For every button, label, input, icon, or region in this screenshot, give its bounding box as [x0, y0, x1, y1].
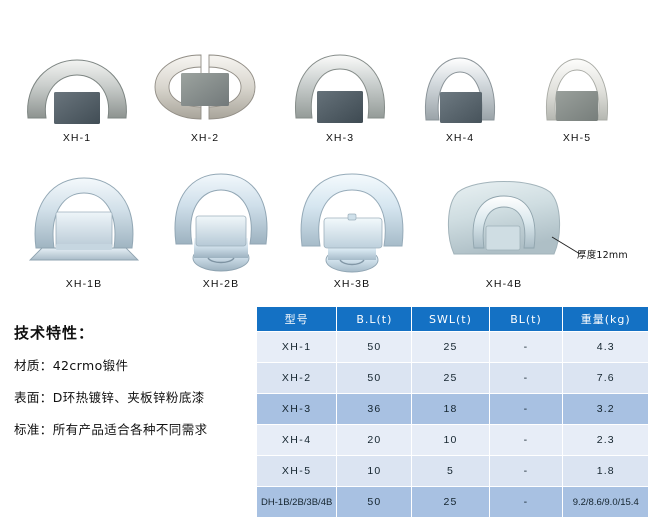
table-row: XH-3 36 18 - 3.2 [257, 394, 648, 424]
product-xh-4b[interactable]: XH-4B [436, 174, 572, 290]
cell-model: DH-1B/2B/3B/4B [257, 487, 336, 517]
cell-swl: 25 [412, 487, 488, 517]
cell-model: XH-1 [257, 332, 336, 362]
cell-weight: 9.2/8.6/9.0/15.4 [563, 487, 648, 517]
tech-spec-surface: 表面：D环热镀锌、夹板锌粉底漆 [14, 387, 254, 406]
cell-model: XH-5 [257, 456, 336, 486]
product-xh-3b[interactable]: XH-3B [290, 168, 414, 290]
product-label-xh-5: XH-5 [534, 132, 620, 144]
product-label-xh-4: XH-4 [414, 132, 506, 144]
cell-bl: 20 [337, 425, 411, 455]
cell-bl2: - [490, 487, 563, 517]
table-row: XH-2 50 25 - 7.6 [257, 363, 648, 393]
product-xh-1[interactable]: XH-1 [18, 48, 136, 144]
cell-weight: 4.3 [563, 332, 648, 362]
col-header-bl: B.L(t) [337, 307, 411, 331]
cell-swl: 18 [412, 394, 488, 424]
cell-model: XH-3 [257, 394, 336, 424]
cell-weight: 2.3 [563, 425, 648, 455]
product-image-xh-1 [18, 48, 136, 126]
col-header-weight: 重量(kg) [563, 307, 648, 331]
table-row: XH-4 20 10 - 2.3 [257, 425, 648, 455]
col-header-bl2: BL(t) [490, 307, 563, 331]
table-row: XH-1 50 25 - 4.3 [257, 332, 648, 362]
cell-weight: 1.8 [563, 456, 648, 486]
product-label-xh-3b: XH-3B [290, 278, 414, 290]
cell-bl: 10 [337, 456, 411, 486]
cell-swl: 25 [412, 332, 488, 362]
cell-bl2: - [490, 363, 563, 393]
cell-bl2: - [490, 425, 563, 455]
spec-table-body: XH-1 50 25 - 4.3 XH-2 50 25 - 7.6 XH-3 3… [257, 332, 648, 517]
cell-model: XH-4 [257, 425, 336, 455]
col-header-swl: SWL(t) [412, 307, 488, 331]
product-xh-2b[interactable]: XH-2B [164, 168, 278, 290]
catalog-page: XH-1 [0, 0, 650, 523]
product-label-xh-3: XH-3 [288, 132, 392, 144]
cell-bl2: - [490, 332, 563, 362]
tech-spec-material: 材质：42crmo锻件 [14, 355, 254, 374]
product-image-xh-5 [534, 54, 620, 126]
cell-swl: 10 [412, 425, 488, 455]
product-xh-3[interactable]: XH-3 [288, 48, 392, 144]
product-label-xh-1: XH-1 [18, 132, 136, 144]
col-header-model: 型号 [257, 307, 336, 331]
cell-bl: 50 [337, 332, 411, 362]
product-label-xh-4b: XH-4B [436, 278, 572, 290]
table-row: XH-5 10 5 - 1.8 [257, 456, 648, 486]
product-label-xh-1b: XH-1B [22, 278, 146, 290]
thickness-annotation: 厚度12mm [577, 247, 628, 261]
cell-bl: 50 [337, 363, 411, 393]
cell-swl: 25 [412, 363, 488, 393]
product-label-xh-2: XH-2 [146, 132, 264, 144]
table-header-row: 型号 B.L(t) SWL(t) BL(t) 重量(kg) [257, 307, 648, 331]
product-xh-5[interactable]: XH-5 [534, 54, 620, 144]
product-xh-4[interactable]: XH-4 [414, 52, 506, 144]
cell-bl2: - [490, 394, 563, 424]
tech-spec-standard: 标准：所有产品适合各种不同需求 [14, 419, 254, 438]
cell-bl2: - [490, 456, 563, 486]
product-image-xh-4b [436, 174, 572, 274]
product-image-xh-3 [288, 48, 392, 126]
product-xh-1b[interactable]: XH-1B [22, 168, 146, 290]
spec-table: 型号 B.L(t) SWL(t) BL(t) 重量(kg) XH-1 50 25… [256, 306, 649, 518]
cell-bl: 36 [337, 394, 411, 424]
product-image-xh-3b [290, 168, 414, 274]
product-image-xh-4 [414, 52, 506, 126]
cell-weight: 3.2 [563, 394, 648, 424]
product-image-xh-1b [22, 168, 146, 274]
tech-spec-block: 技术特性： 材质：42crmo锻件 表面：D环热镀锌、夹板锌粉底漆 标准：所有产… [14, 322, 254, 451]
cell-swl: 5 [412, 456, 488, 486]
spec-table-head: 型号 B.L(t) SWL(t) BL(t) 重量(kg) [257, 307, 648, 331]
tech-spec-title: 技术特性： [14, 322, 254, 343]
product-label-xh-2b: XH-2B [164, 278, 278, 290]
product-image-xh-2b [164, 168, 278, 274]
product-xh-2[interactable]: XH-2 [146, 48, 264, 144]
table-row: DH-1B/2B/3B/4B 50 25 - 9.2/8.6/9.0/15.4 [257, 487, 648, 517]
cell-model: XH-2 [257, 363, 336, 393]
cell-weight: 7.6 [563, 363, 648, 393]
product-image-xh-2 [146, 48, 264, 126]
cell-bl: 50 [337, 487, 411, 517]
